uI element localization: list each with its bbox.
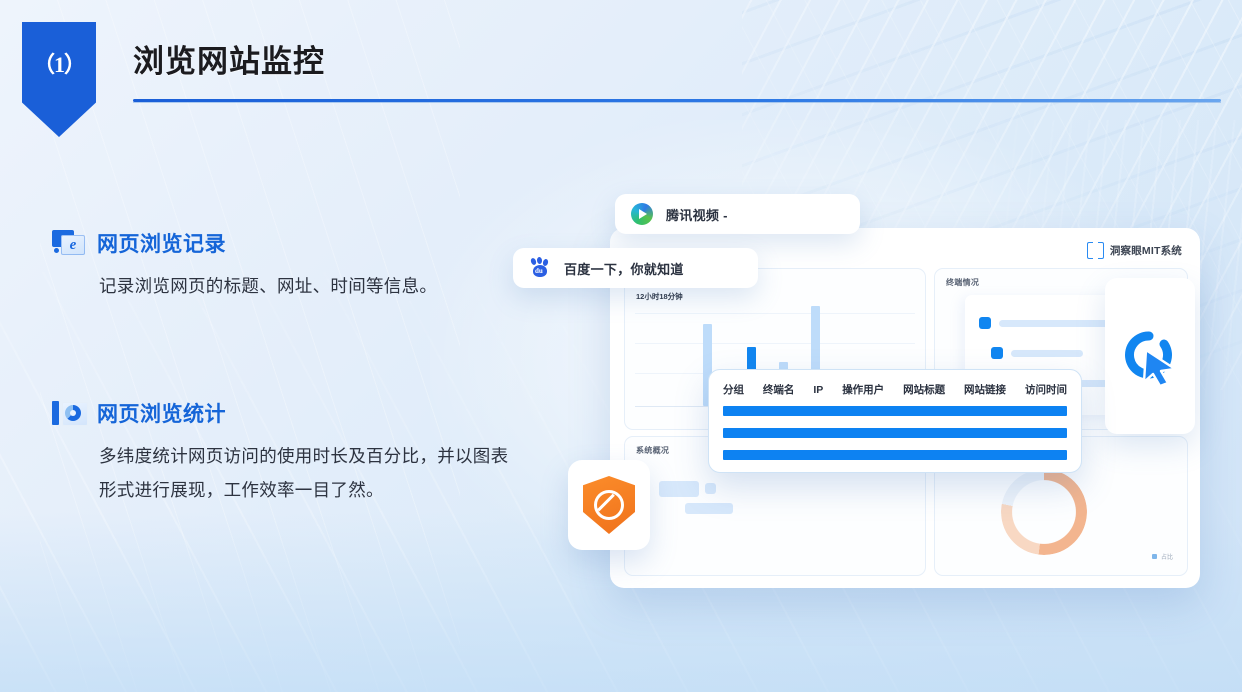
- chart-time-label: 12小时18分钟: [636, 291, 683, 302]
- shield-card: [568, 460, 650, 550]
- table-column-header: 访问时间: [1025, 382, 1067, 397]
- chart-gridline: [635, 343, 915, 344]
- list-bullet-icon: [979, 317, 991, 329]
- table-column-header: 操作用户: [842, 382, 884, 397]
- slide-root: （1） 浏览网站监控 e 网页浏览记录 记录浏览网页的标题、网址、时间等信息。 …: [0, 0, 1242, 692]
- title-divider: [133, 99, 1221, 102]
- product-logo-text: 洞察眼MIT系统: [1110, 243, 1182, 258]
- feature-description: 多纬度统计网页访问的使用时长及百分比，并以图表形式进行展现，工作效率一目了然。: [99, 439, 522, 507]
- feature-title: 网页浏览记录: [97, 228, 226, 258]
- list-item: [979, 317, 1125, 329]
- panel-label: 系统概况: [636, 445, 669, 456]
- stats-pie: [65, 405, 81, 421]
- ie-e-glyph: e: [70, 238, 77, 253]
- stats-bar: [52, 401, 59, 425]
- table-column-header: IP: [813, 384, 823, 396]
- shield-block-icon: [583, 476, 635, 534]
- browser-window-front: e: [61, 235, 85, 255]
- chart-stats-icon: [52, 399, 86, 427]
- page-title: 浏览网站监控: [133, 36, 325, 81]
- product-logo: 洞察眼MIT系统: [1087, 242, 1182, 259]
- section-number-badge: （1）: [22, 22, 96, 137]
- table-row: [723, 428, 1067, 438]
- browsing-records-table: 分组 终端名 IP 操作用户 网站标题 网站链接 访问时间: [708, 369, 1082, 473]
- table-row: [723, 406, 1067, 416]
- feature-header: 网页浏览统计: [52, 398, 522, 428]
- logo-mark-left: [1087, 242, 1093, 259]
- system-placeholder-block: [685, 503, 733, 514]
- chip-label: 百度一下，你就知道: [564, 259, 684, 278]
- table-column-header: 网站链接: [964, 382, 1006, 397]
- product-logo-mark-icon: [1087, 242, 1104, 259]
- panel-label: 终端情况: [946, 277, 979, 288]
- feature-header: e 网页浏览记录: [52, 228, 522, 258]
- feature-title: 网页浏览统计: [97, 398, 226, 428]
- feature-block-browsing-record: e 网页浏览记录 记录浏览网页的标题、网址、时间等信息。: [52, 228, 522, 303]
- table-row: [723, 450, 1067, 460]
- pie-legend: 占比: [1152, 552, 1173, 561]
- paw-toe: [537, 257, 543, 264]
- legend-label: 占比: [1161, 552, 1173, 561]
- list-placeholder-line: [1011, 350, 1083, 357]
- browser-dot: [54, 248, 59, 253]
- system-placeholder-block: [705, 483, 716, 494]
- donut-chart: [1001, 469, 1087, 555]
- table-column-header: 分组: [723, 382, 744, 397]
- feature-description: 记录浏览网页的标题、网址、时间等信息。: [99, 269, 522, 303]
- chip-baidu[interactable]: du 百度一下，你就知道: [513, 248, 758, 288]
- feature-block-browsing-statistics: 网页浏览统计 多纬度统计网页访问的使用时长及百分比，并以图表形式进行展现，工作效…: [52, 398, 522, 507]
- baidu-paw-icon: du: [529, 257, 551, 279]
- baidu-du-text: du: [535, 267, 543, 275]
- cursor-card: [1105, 278, 1195, 434]
- click-cursor-icon: [1119, 330, 1181, 386]
- no-entry-glyph: [594, 490, 624, 520]
- table-header-row: 分组 终端名 IP 操作用户 网站标题 网站链接 访问时间: [723, 381, 1067, 398]
- list-item: [991, 347, 1083, 359]
- logo-mark-right: [1098, 242, 1104, 259]
- section-number-label: （1）: [33, 47, 85, 79]
- chip-label: 腾讯视频 -: [666, 205, 728, 224]
- browser-ie-icon: e: [52, 229, 86, 257]
- tencent-video-icon: [631, 203, 653, 225]
- dashboard-composition: 洞察眼MIT系统 12小时18分钟 系统概况: [560, 170, 1220, 590]
- chip-tencent-video[interactable]: 腾讯视频 -: [615, 194, 860, 234]
- list-bullet-icon: [991, 347, 1003, 359]
- table-column-header: 网站标题: [903, 382, 945, 397]
- chart-gridline: [635, 313, 915, 314]
- table-column-header: 终端名: [763, 382, 795, 397]
- legend-swatch: [1152, 554, 1157, 559]
- background-diagonal-left: [40, 0, 460, 692]
- system-placeholder-block: [659, 481, 699, 497]
